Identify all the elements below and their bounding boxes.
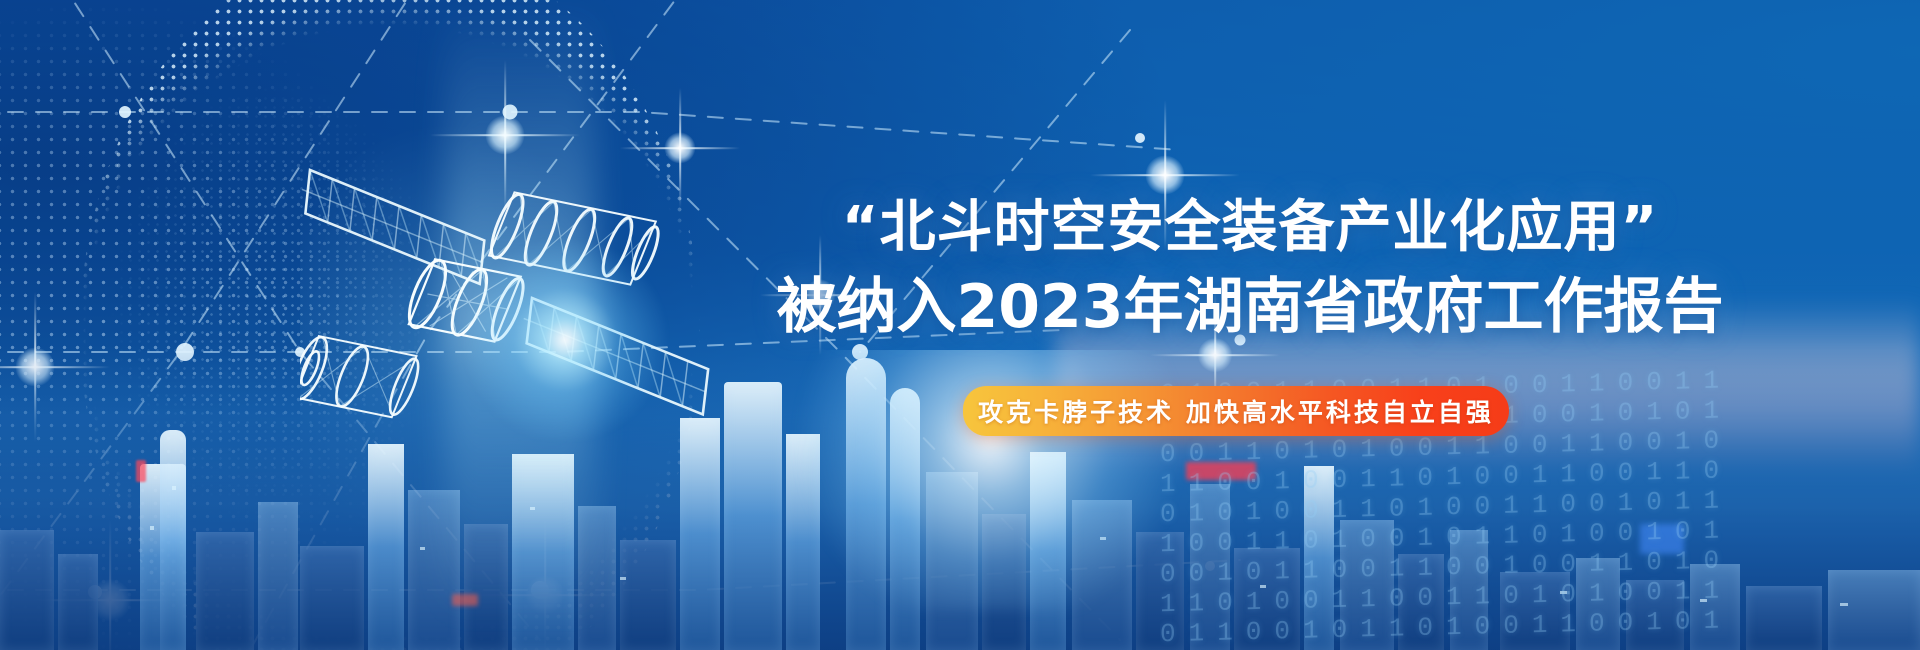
slogan-text: 攻克卡脖子技术 加快高水平科技自立自强: [978, 393, 1494, 429]
headline-line-1: “北斗时空安全装备产业化应用”: [760, 196, 1740, 260]
headline-line-2: 被纳入2023年湖南省政府工作报告: [760, 272, 1740, 342]
headline-block: “北斗时空安全装备产业化应用” 被纳入2023年湖南省政府工作报告 攻克卡脖子技…: [0, 0, 1920, 650]
slogan-pill[interactable]: 攻克卡脖子技术 加快高水平科技自立自强: [963, 386, 1509, 436]
banner-root: 01001100110100110011 1010011001011001010…: [0, 0, 1920, 650]
